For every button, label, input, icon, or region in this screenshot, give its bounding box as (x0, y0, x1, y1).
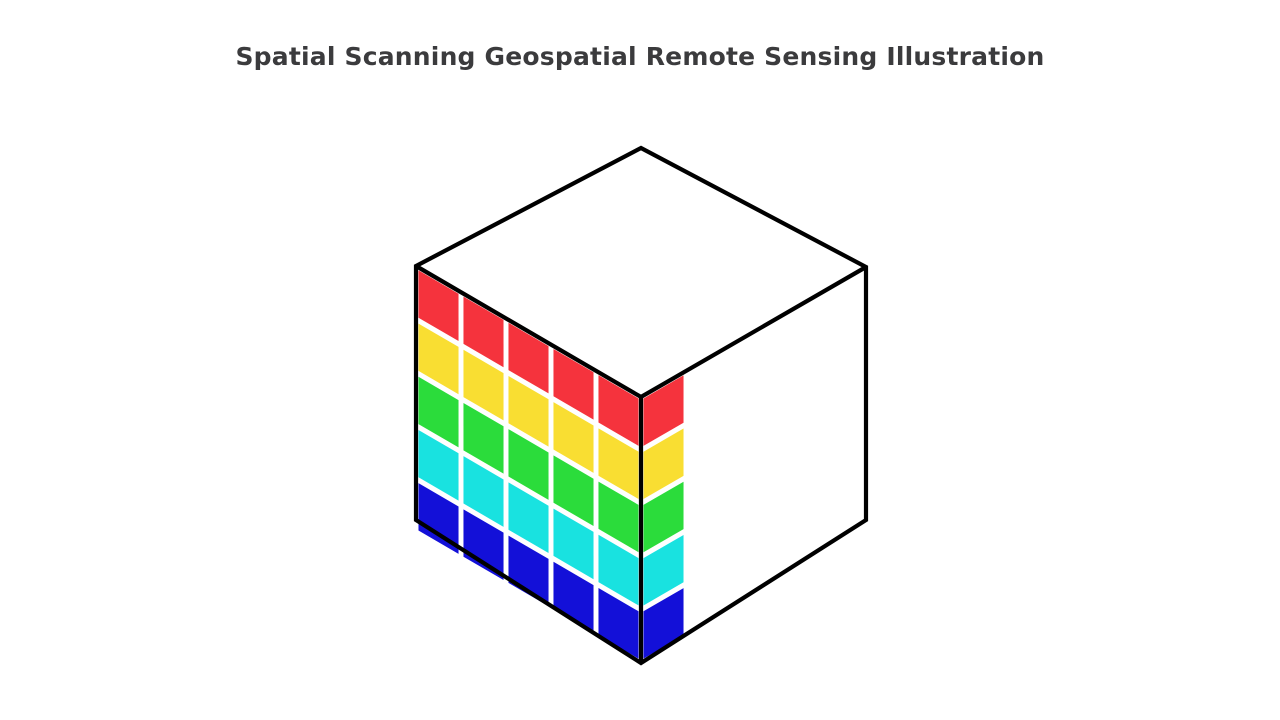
isometric-data-cube (0, 0, 1280, 720)
illustration-page: Spatial Scanning Geospatial Remote Sensi… (0, 0, 1280, 720)
